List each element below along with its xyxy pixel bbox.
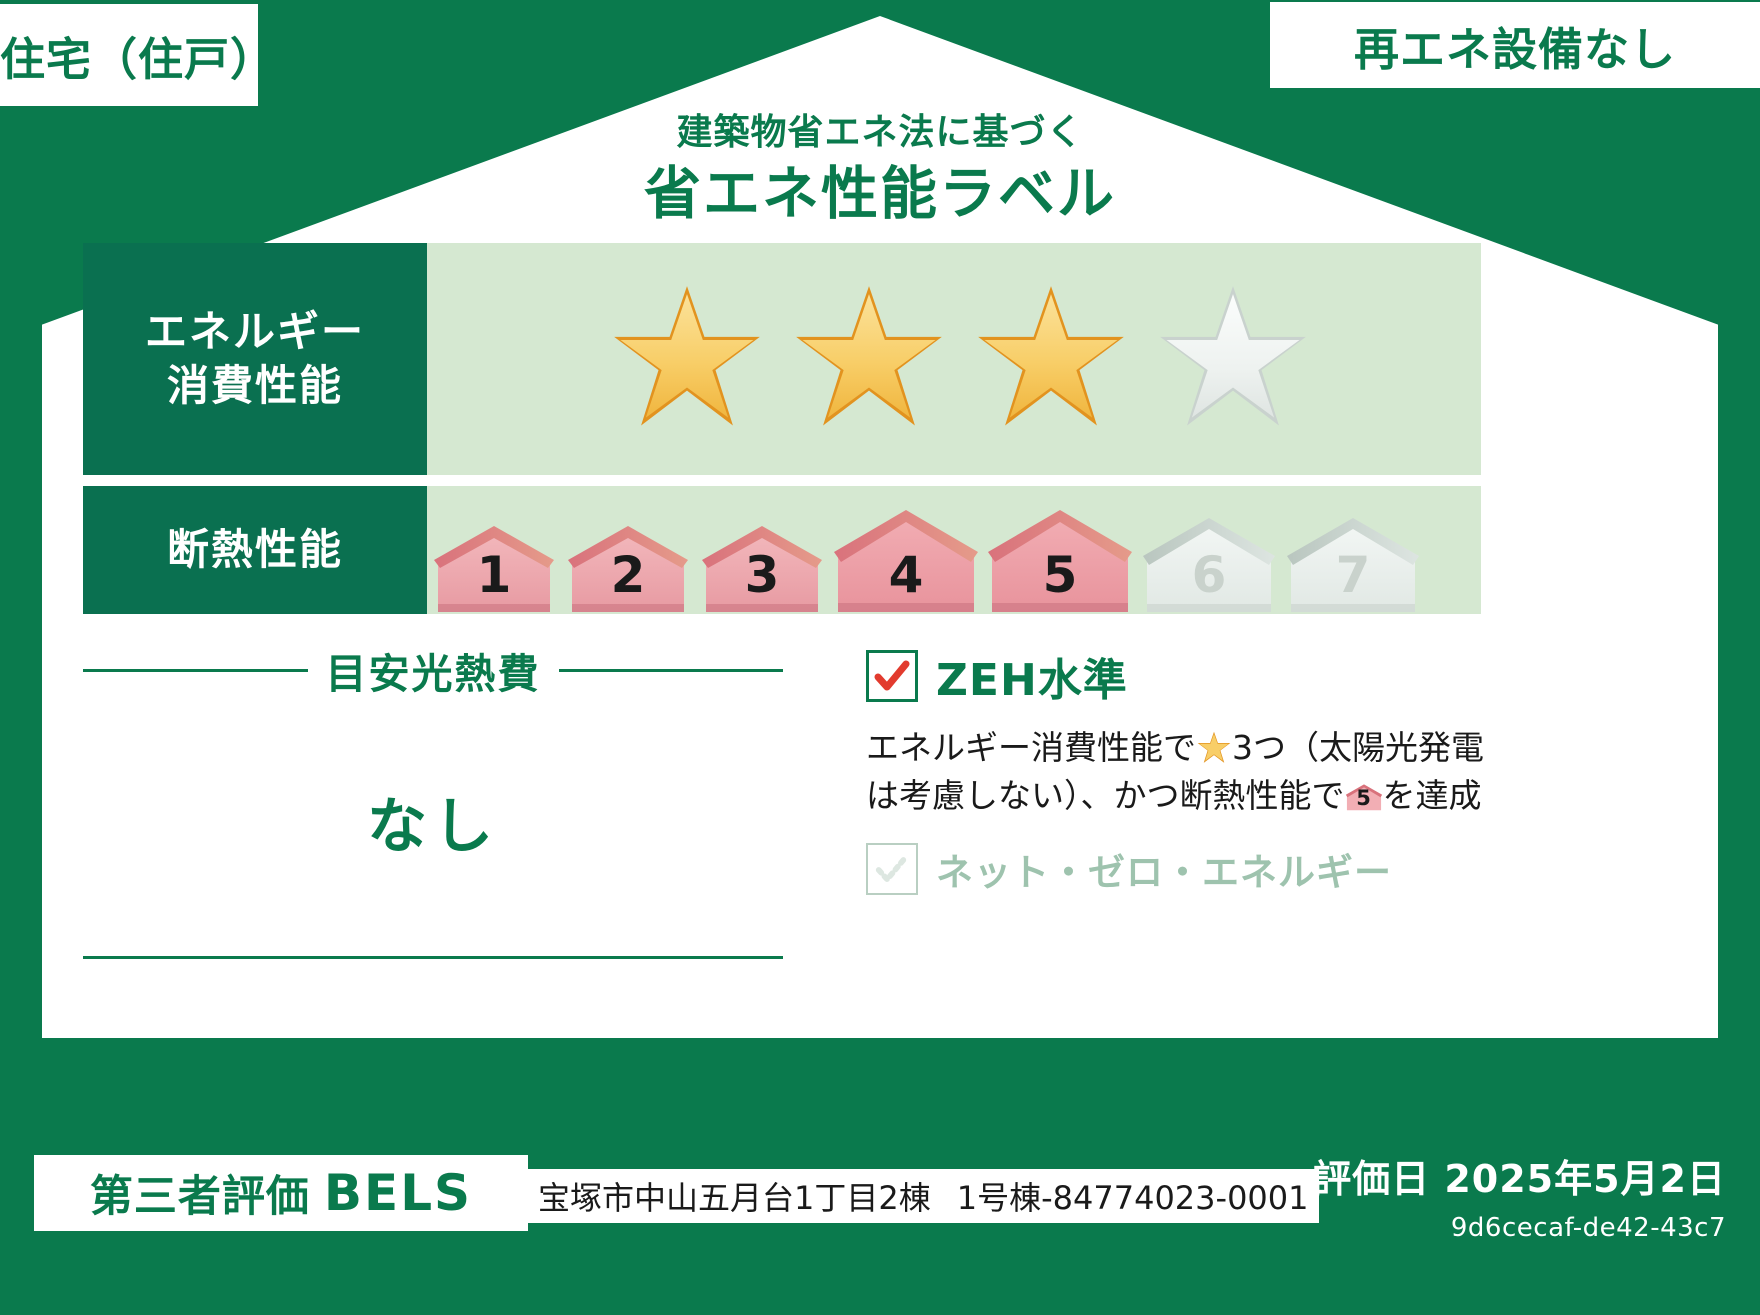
utility-cost-underline <box>83 956 783 959</box>
insulation-house-icon-2: 2 <box>564 524 692 612</box>
property-building-id: 1号棟-84774023-0001 <box>957 1179 1309 1217</box>
zeh-title-row: ZEH水準 <box>866 644 1486 708</box>
zeh-desc-line1-part1: エネルギー消費性能で <box>866 728 1196 767</box>
zeh-title-text: ZEH水準 <box>936 644 1128 708</box>
bels-logo-text: BELS <box>324 1164 472 1222</box>
evaluation-id: 9d6cecaf-de42-43c7 <box>1451 1213 1726 1243</box>
star-icon-empty-4 <box>1153 283 1313 435</box>
badge-building-type: 住宅（住戸） <box>0 4 258 106</box>
energy-performance-value <box>427 243 1481 475</box>
check-icon <box>872 656 912 696</box>
energy-label-root: 住宅（住戸） 再エネ設備なし 建築物省エネ法に基づく 省エネ性能ラベル エネルギ… <box>0 0 1760 1315</box>
zeh-checkbox[interactable] <box>866 650 918 702</box>
insulation-level-scale: 1 2 3 <box>427 486 1422 614</box>
insulation-level-number: 7 <box>1284 546 1422 604</box>
star-icon-filled-2 <box>789 283 949 435</box>
insulation-level-number: 4 <box>832 546 980 604</box>
insulation-house-icon-6: 6 <box>1140 516 1278 612</box>
insulation-performance-row: 断熱性能 <box>83 486 1481 614</box>
star-icon-inline <box>1196 730 1232 764</box>
utility-cost-heading-text: 目安光熱費 <box>326 640 541 700</box>
star-icon-filled-1 <box>607 283 767 435</box>
star-icon-filled-3 <box>971 283 1131 435</box>
insulation-level-number: 3 <box>698 546 826 604</box>
check-icon-empty <box>873 850 911 888</box>
zeh-block: ZEH水準 エネルギー消費性能で 3つ（太陽光発電 は考慮しない）、かつ断熱性能… <box>866 644 1486 896</box>
zeh-desc-line2-part1: は考慮しない）、かつ断熱性能で <box>866 776 1345 815</box>
insulation-level-number: 6 <box>1140 546 1278 604</box>
energy-performance-row: エネルギー 消費性能 <box>83 243 1481 475</box>
net-zero-energy-row: ネット・ゼロ・エネルギー <box>866 842 1486 896</box>
insulation-house-icon-4: 4 <box>832 508 980 612</box>
insulation-performance-label: 断熱性能 <box>83 486 427 614</box>
utility-cost-value: なし <box>83 778 783 865</box>
bels-japanese-label: 第三者評価 <box>90 1162 310 1224</box>
net-zero-energy-text: ネット・ゼロ・エネルギー <box>936 842 1392 896</box>
bels-badge: 第三者評価 BELS <box>34 1155 528 1231</box>
insulation-house-inline-number: 5 <box>1345 779 1383 815</box>
insulation-house-icon-7: 7 <box>1284 516 1422 612</box>
evaluation-date: 評価日 2025年5月2日 <box>1313 1148 1726 1203</box>
label-footer: 第三者評価 BELS 宝塚市中山五月台1丁目2棟1号棟-84774023-000… <box>0 1038 1760 1315</box>
insulation-house-icon-5: 5 <box>986 508 1134 612</box>
property-address-chip: 宝塚市中山五月台1丁目2棟1号棟-84774023-0001 <box>528 1169 1319 1223</box>
heading-rule-left <box>83 669 308 672</box>
insulation-performance-value: 1 2 3 <box>427 486 1481 614</box>
badge-renewable-equipment: 再エネ設備なし <box>1270 2 1760 88</box>
insulation-house-icon-inline: 5 <box>1345 779 1383 815</box>
insulation-level-number: 1 <box>430 546 558 604</box>
property-address: 宝塚市中山五月台1丁目2棟 <box>538 1179 931 1217</box>
heading-rule-right <box>559 669 784 672</box>
insulation-level-number: 2 <box>564 546 692 604</box>
zeh-desc-line2-part2: を達成 <box>1383 776 1482 815</box>
star-rating <box>427 283 1313 435</box>
page-title: 省エネ性能ラベル <box>0 148 1760 230</box>
energy-performance-label: エネルギー 消費性能 <box>83 243 427 475</box>
energy-label-line1: エネルギー <box>145 305 365 359</box>
insulation-house-icon-1: 1 <box>430 524 558 612</box>
insulation-level-number: 5 <box>986 546 1134 604</box>
zeh-desc-line1-part2: 3つ（太陽光発電 <box>1232 728 1484 767</box>
net-zero-energy-checkbox[interactable] <box>866 843 918 895</box>
energy-label-line2: 消費性能 <box>167 359 343 413</box>
insulation-house-icon-3: 3 <box>698 524 826 612</box>
utility-cost-block: 目安光熱費 なし <box>83 640 783 865</box>
zeh-description: エネルギー消費性能で 3つ（太陽光発電 は考慮しない）、かつ断熱性能で 5 を達… <box>866 724 1486 820</box>
utility-cost-heading: 目安光熱費 <box>83 640 783 700</box>
insulation-label-text: 断熱性能 <box>167 523 343 577</box>
